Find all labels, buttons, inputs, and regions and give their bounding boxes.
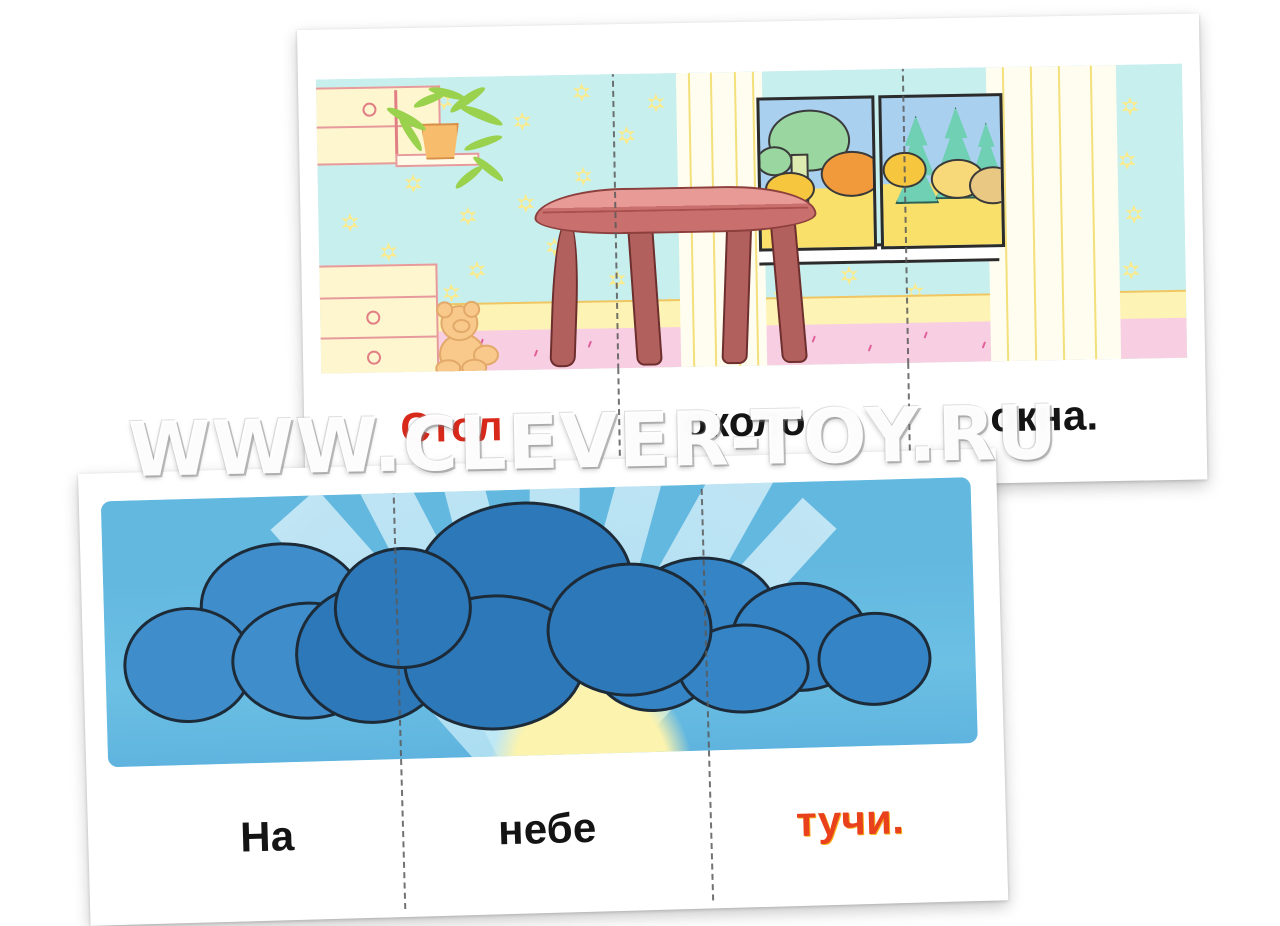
word-okna[interactable]: окна.	[990, 391, 1099, 441]
sentence-card-table[interactable]: Стол около окна.	[297, 13, 1207, 495]
sentence-strip-clouds: На небе тучи.	[109, 769, 981, 889]
scene-clouds-in-sky	[101, 477, 978, 767]
table-leg	[549, 223, 580, 368]
cloud-center	[291, 496, 717, 738]
sky-background	[101, 477, 978, 767]
window-pane-right	[878, 93, 1005, 249]
screenshot-stage: Стол около окна.	[0, 0, 1280, 905]
table-leg	[627, 222, 663, 366]
table-leg	[721, 220, 752, 365]
word-tuchi[interactable]: тучи.	[795, 795, 904, 846]
curtain-right	[986, 65, 1121, 361]
scene-room-with-table	[316, 64, 1187, 374]
table-top	[534, 185, 817, 236]
word-na[interactable]: На	[240, 812, 295, 861]
dresser-lower	[316, 263, 439, 373]
word-nebe[interactable]: небе	[497, 804, 597, 855]
teddy-bear	[432, 300, 495, 373]
sentence-card-clouds[interactable]: На небе тучи.	[78, 448, 1008, 925]
room-illustration	[316, 64, 1187, 374]
word-stol[interactable]: Стол	[400, 402, 503, 452]
table-leg	[770, 219, 809, 363]
word-okolo[interactable]: около	[682, 397, 806, 447]
round-table	[534, 185, 815, 370]
flower-pot	[421, 123, 460, 160]
